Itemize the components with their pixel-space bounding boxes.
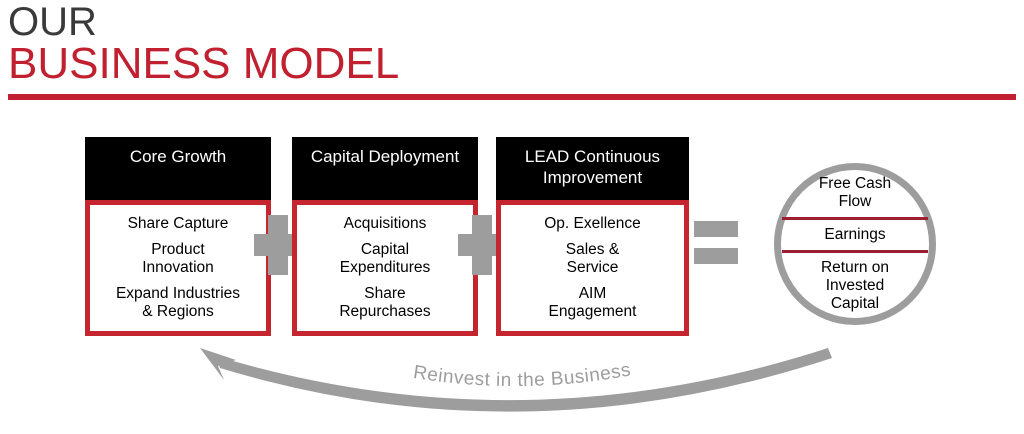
outcome-divider — [782, 217, 928, 220]
pillar-item: Sales & Service — [566, 241, 619, 277]
title-line-our: OUR — [8, 0, 399, 44]
page-title: OUR BUSINESS MODEL — [8, 0, 399, 88]
pillar-header-lead-continuous-improvement: LEAD Continuous Improvement — [496, 137, 689, 200]
pillar-item: Acquisitions — [344, 215, 427, 233]
title-underline-rule — [8, 94, 1016, 100]
outcome-circle: Free Cash Flow Earnings Return on Invest… — [774, 163, 936, 325]
pillar-core-growth: Core Growth Share Capture Product Innova… — [85, 137, 271, 336]
pillar-lead-continuous-improvement: LEAD Continuous Improvement Op. Exellenc… — [496, 137, 689, 336]
pillar-item: Share Repurchases — [339, 285, 430, 321]
pillar-item: Op. Exellence — [544, 215, 641, 233]
outcome-divider — [782, 250, 928, 253]
equals-bar-top — [694, 221, 738, 237]
pillar-body-core-growth: Share Capture Product Innovation Expand … — [85, 200, 271, 336]
outcome-item-earnings: Earnings — [824, 223, 885, 247]
title-line-business-model: BUSINESS MODEL — [8, 40, 399, 88]
pillar-item: Share Capture — [128, 215, 229, 233]
pillar-capital-deployment: Capital Deployment Acquisitions Capital … — [292, 137, 478, 336]
pillar-body-lead-continuous-improvement: Op. Exellence Sales & Service AIM Engage… — [496, 200, 689, 336]
pillar-header-capital-deployment: Capital Deployment — [292, 137, 478, 200]
equals-bar-bottom — [694, 248, 738, 264]
pillar-body-capital-deployment: Acquisitions Capital Expenditures Share … — [292, 200, 478, 336]
equals-icon — [694, 221, 738, 265]
outcome-item-free-cash-flow: Free Cash Flow — [819, 172, 891, 214]
pillar-item: AIM Engagement — [549, 285, 637, 321]
pillar-item: Expand Industries & Regions — [116, 285, 240, 321]
pillar-item: Product Innovation — [142, 241, 214, 277]
reinvest-label: Reinvest in the Business — [352, 360, 692, 400]
reinvest-label-text: Reinvest in the Business — [412, 360, 633, 391]
pillar-header-core-growth: Core Growth — [85, 137, 271, 200]
pillar-item: Capital Expenditures — [340, 241, 430, 277]
outcome-item-return-on-invested-capital: Return on Invested Capital — [821, 256, 889, 316]
